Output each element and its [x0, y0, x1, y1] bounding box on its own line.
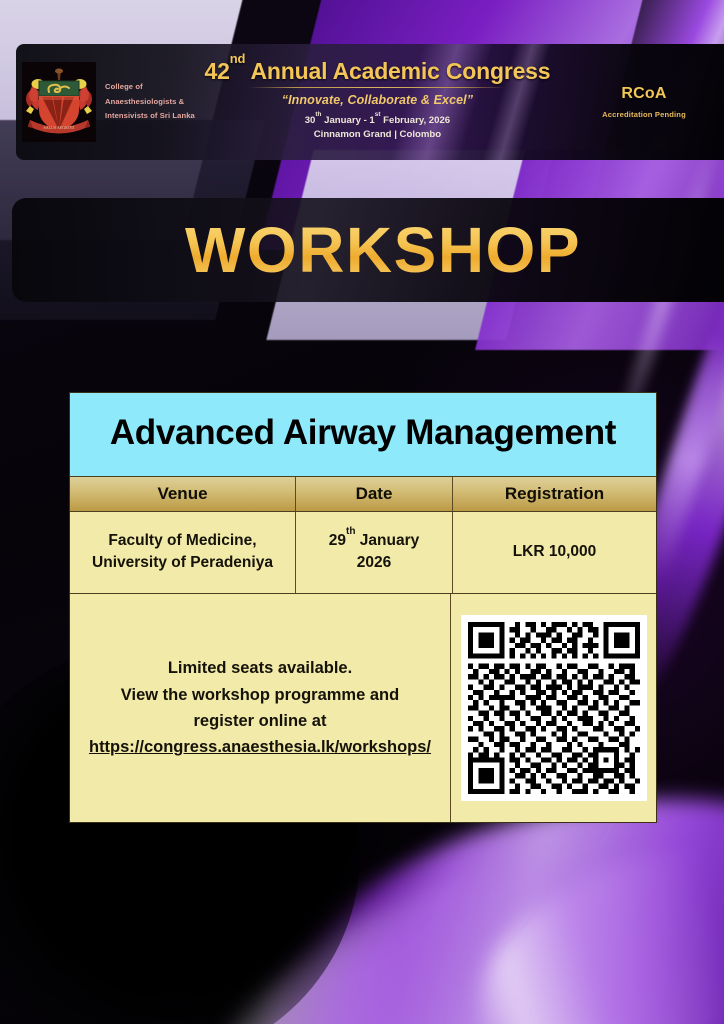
qr-code-icon[interactable]	[461, 615, 647, 801]
qr-code-panel	[451, 594, 656, 822]
college-crest-icon: SALUS AEGROTI	[22, 62, 96, 142]
svg-text:SALUS AEGROTI: SALUS AEGROTI	[43, 125, 75, 130]
cell-registration-fee: LKR 10,000	[453, 512, 656, 593]
cell-date: 29th January 2026	[296, 512, 453, 593]
registration-line-2: View the workshop programme and	[121, 682, 399, 708]
registration-line-1: Limited seats available.	[168, 655, 352, 681]
details-table-row: Faculty of Medicine, University of Perad…	[70, 512, 656, 594]
accreditor-name: RCoA	[574, 85, 714, 103]
congress-tagline: “Innovate, Collaborate & Excel”	[181, 93, 574, 108]
accreditor-status: Accreditation Pending	[574, 110, 714, 119]
registration-line-3: register online at	[194, 708, 327, 734]
organisation-branding: SALUS AEGROTI College of Anaesthesiologi…	[16, 62, 195, 142]
workshop-details-card: Advanced Airway Management Venue Date Re…	[69, 392, 657, 823]
congress-date-end-ordinal: st	[375, 111, 381, 118]
column-header-venue: Venue	[70, 477, 296, 511]
date-day-ordinal: th	[346, 526, 355, 537]
congress-date-end: February, 2026	[380, 116, 450, 127]
congress-date-start-ordinal: th	[315, 111, 321, 118]
column-header-registration: Registration	[453, 477, 656, 511]
poster-root: SALUS AEGROTI College of Anaesthesiologi…	[0, 0, 724, 1024]
registration-info-row: Limited seats available. View the worksh…	[70, 594, 656, 822]
date-year: 2026	[329, 552, 419, 574]
registration-instructions: Limited seats available. View the worksh…	[70, 594, 451, 822]
congress-date-start: 30	[305, 116, 316, 127]
congress-dates: 30th January - 1st February, 2026	[181, 114, 574, 128]
column-header-date: Date	[296, 477, 453, 511]
congress-title: 42nd Annual Academic Congress	[181, 59, 574, 83]
workshop-banner: WORKSHOP	[12, 198, 724, 302]
congress-header-bar: SALUS AEGROTI College of Anaesthesiologi…	[16, 44, 724, 160]
congress-title-ordinal: nd	[230, 51, 245, 66]
cell-venue: Faculty of Medicine, University of Perad…	[70, 512, 296, 593]
date-month: January	[355, 532, 419, 549]
date-day: 29	[329, 532, 346, 549]
congress-title-main: Annual Academic Congress	[245, 58, 550, 84]
accreditation-block: RCoA Accreditation Pending	[574, 85, 724, 119]
workshop-banner-label: WORKSHOP	[185, 218, 581, 282]
details-table-header-row: Venue Date Registration	[70, 477, 656, 512]
venue-line-1: Faculty of Medicine,	[92, 530, 273, 552]
date-line-1: 29th January	[329, 530, 419, 553]
venue-line-2: University of Peradeniya	[92, 552, 273, 574]
workshop-title-panel: Advanced Airway Management	[70, 393, 656, 477]
congress-title-rule	[249, 87, 505, 88]
congress-title-block: 42nd Annual Academic Congress “Innovate,…	[181, 59, 574, 145]
congress-venue: Cinnamon Grand | Colombo	[181, 128, 574, 142]
congress-title-number: 42	[205, 58, 230, 84]
congress-date-middle: January - 1	[321, 116, 374, 127]
workshop-title: Advanced Airway Management	[84, 411, 642, 456]
registration-link[interactable]: https://congress.anaesthesia.lk/workshop…	[89, 734, 431, 760]
